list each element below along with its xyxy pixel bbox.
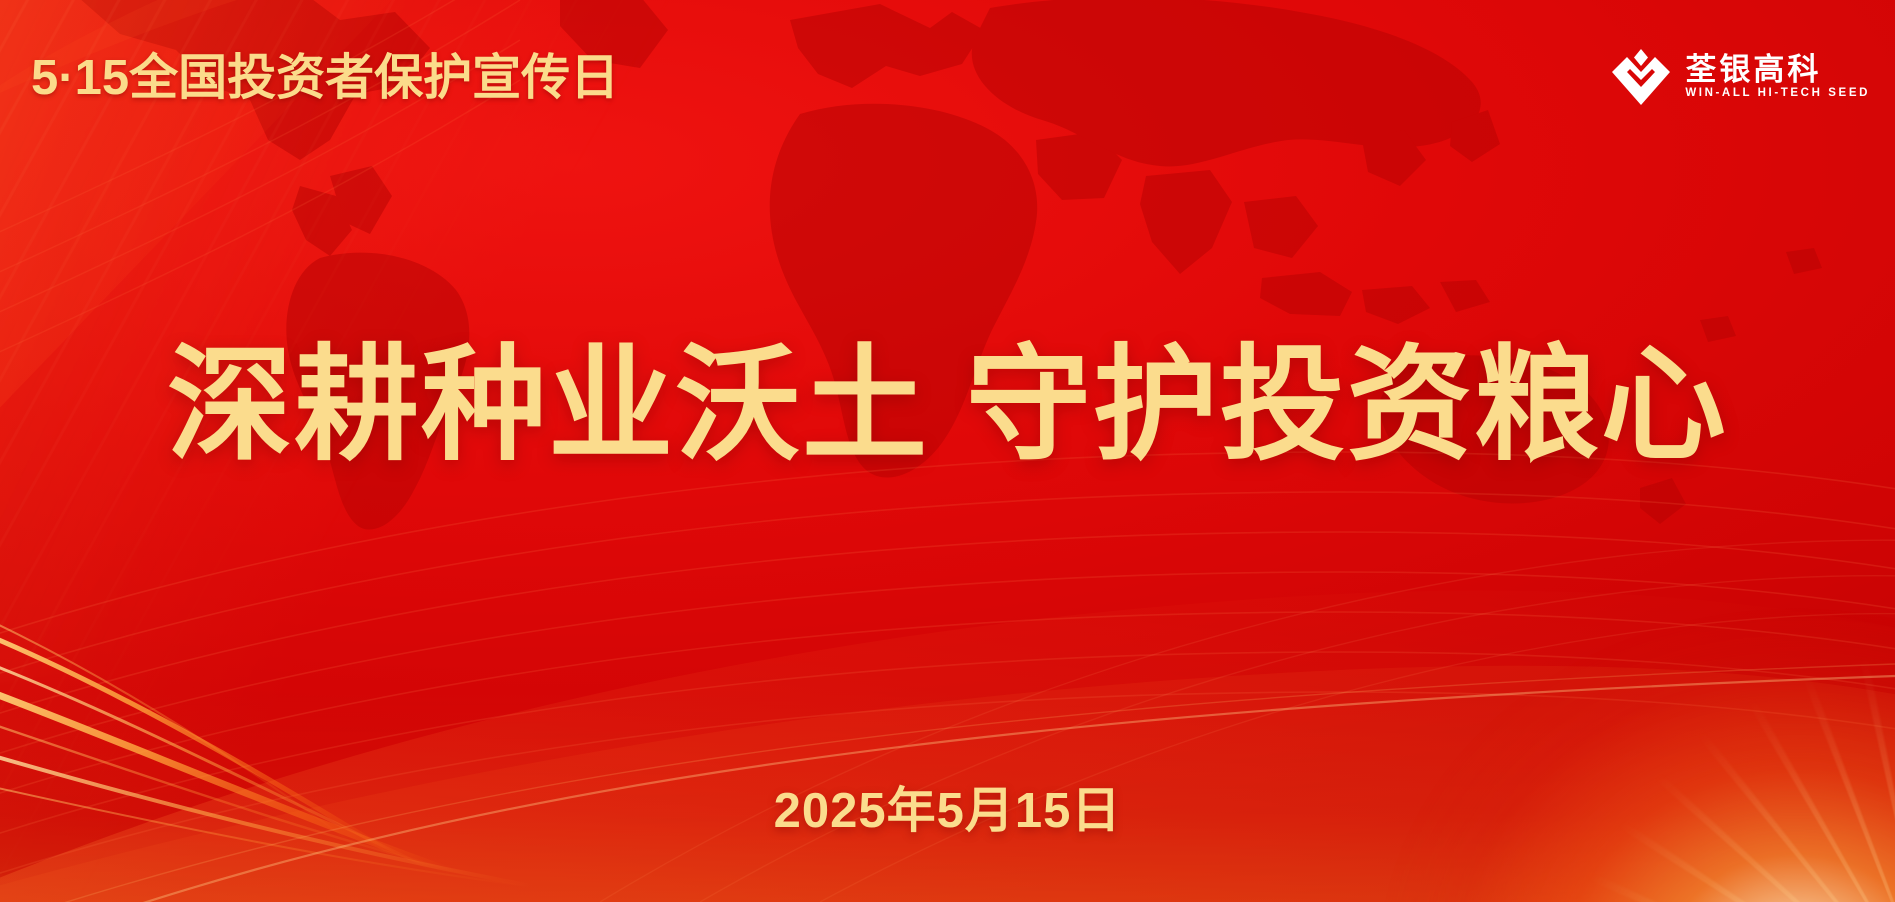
brand-logo-text: 荃银高科 WIN-ALL HI-TECH SEED <box>1685 54 1870 100</box>
campaign-kicker: 5·15全国投资者保护宣传日 <box>31 54 619 103</box>
brand-name-en: WIN-ALL HI-TECH SEED <box>1685 88 1870 100</box>
content-layer: 5·15全国投资者保护宣传日 荃银高科 WIN-ALL HI-TECH SEED… <box>0 0 1895 902</box>
event-date: 2025年5月15日 <box>0 787 1895 836</box>
brand-logo: 荃银高科 WIN-ALL HI-TECH SEED <box>1611 48 1870 106</box>
banner-poster: 5·15全国投资者保护宣传日 荃银高科 WIN-ALL HI-TECH SEED… <box>0 0 1895 902</box>
brand-name-cn: 荃银高科 <box>1685 54 1821 85</box>
win-all-chevron-mark <box>1611 48 1671 106</box>
main-headline: 深耕种业沃土 守护投资粮心 <box>0 338 1895 473</box>
